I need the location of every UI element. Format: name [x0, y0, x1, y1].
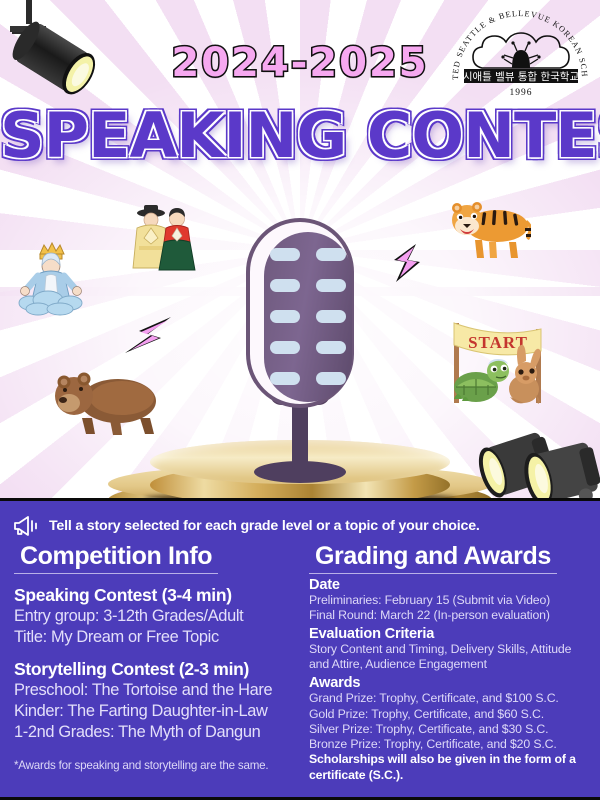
- scholarship-note: Scholarships will also be given in the f…: [309, 752, 592, 767]
- evaluation-criteria-label: Evaluation Criteria: [309, 626, 592, 642]
- school-logo: UNITED SEATTLE & BELLEVUE KOREAN SCHOOL …: [450, 6, 590, 102]
- sky-god-illustration: [12, 240, 90, 320]
- logo-arc-text: UNITED SEATTLE & BELLEVUE KOREAN SCHOOL: [450, 6, 589, 80]
- grading-awards-column: Grading and Awards Date Preliminaries: F…: [309, 543, 592, 783]
- storytelling-contest-line: Kinder: The Farting Daughter-in-Law: [14, 701, 305, 722]
- storytelling-contest-line: 1-2nd Grades: The Myth of Dangun: [14, 722, 305, 743]
- speaking-contest-line: Title: My Dream or Free Topic: [14, 627, 305, 648]
- award-line: Grand Prize: Trophy, Certificate, and $1…: [309, 691, 592, 706]
- speaking-contest-poster: 2024-2025 UNITED SEATTLE & BELLEVUE KORE…: [0, 0, 600, 800]
- tagline-row: Tell a story selected for each grade lev…: [0, 501, 600, 537]
- award-line: Gold Prize: Trophy, Certificate, and $60…: [309, 707, 592, 722]
- tagline-text: Tell a story selected for each grade lev…: [49, 518, 480, 534]
- award-line: Silver Prize: Trophy, Certificate, and $…: [309, 722, 592, 737]
- storytelling-contest-line: Preschool: The Tortoise and the Hare: [14, 680, 305, 701]
- megaphone-icon: [12, 515, 40, 537]
- grading-awards-heading: Grading and Awards: [309, 543, 557, 574]
- mic-grille: [264, 232, 352, 402]
- microphone-illustration: [242, 218, 358, 483]
- tortoise-and-hare-illustration: START: [440, 315, 556, 407]
- speaking-contest-line: Entry group: 3-12th Grades/Adult: [14, 606, 305, 627]
- awards-footnote: *Awards for speaking and storytelling ar…: [14, 759, 305, 772]
- mic-body: [246, 218, 354, 408]
- date-line: Final Round: March 22 (In-person evaluat…: [309, 608, 592, 623]
- storytelling-contest-title: Storytelling Contest (2-3 min): [14, 659, 305, 680]
- bear-illustration: [52, 370, 160, 436]
- evaluation-criteria-line: Story Content and Timing, Delivery Skill…: [309, 642, 592, 657]
- logo-year-founded: 1996: [510, 88, 533, 98]
- page-title: SPEAKING CONTEST: [0, 99, 600, 172]
- competition-info-column: Competition Info Speaking Contest (3-4 m…: [8, 543, 305, 783]
- award-line: Bronze Prize: Trophy, Certificate, and $…: [309, 737, 592, 752]
- evaluation-criteria-line: and Attire, Audience Engagement: [309, 657, 592, 672]
- scholarship-note: certificate (S.C.).: [309, 768, 592, 783]
- date-label: Date: [309, 577, 592, 593]
- mic-stem: [292, 399, 308, 469]
- info-panel: Tell a story selected for each grade lev…: [0, 498, 600, 800]
- logo-korean-name: 시애틀 벨뷰 통합 한국학교: [463, 71, 580, 83]
- svg-text:UNITED SEATTLE & BELLEVUE KORE: UNITED SEATTLE & BELLEVUE KOREAN SCHOOL: [450, 6, 589, 80]
- competition-info-heading: Competition Info: [14, 543, 218, 574]
- lightning-bolt-icon: [386, 242, 426, 284]
- lightning-bolt-icon: [121, 314, 175, 356]
- date-line: Preliminaries: February 15 (Submit via V…: [309, 593, 592, 608]
- korean-couple-hanbok-illustration: [127, 204, 199, 280]
- tiger-illustration: [447, 200, 531, 262]
- speaking-contest-title: Speaking Contest (3-4 min): [14, 585, 305, 606]
- awards-label: Awards: [309, 675, 592, 691]
